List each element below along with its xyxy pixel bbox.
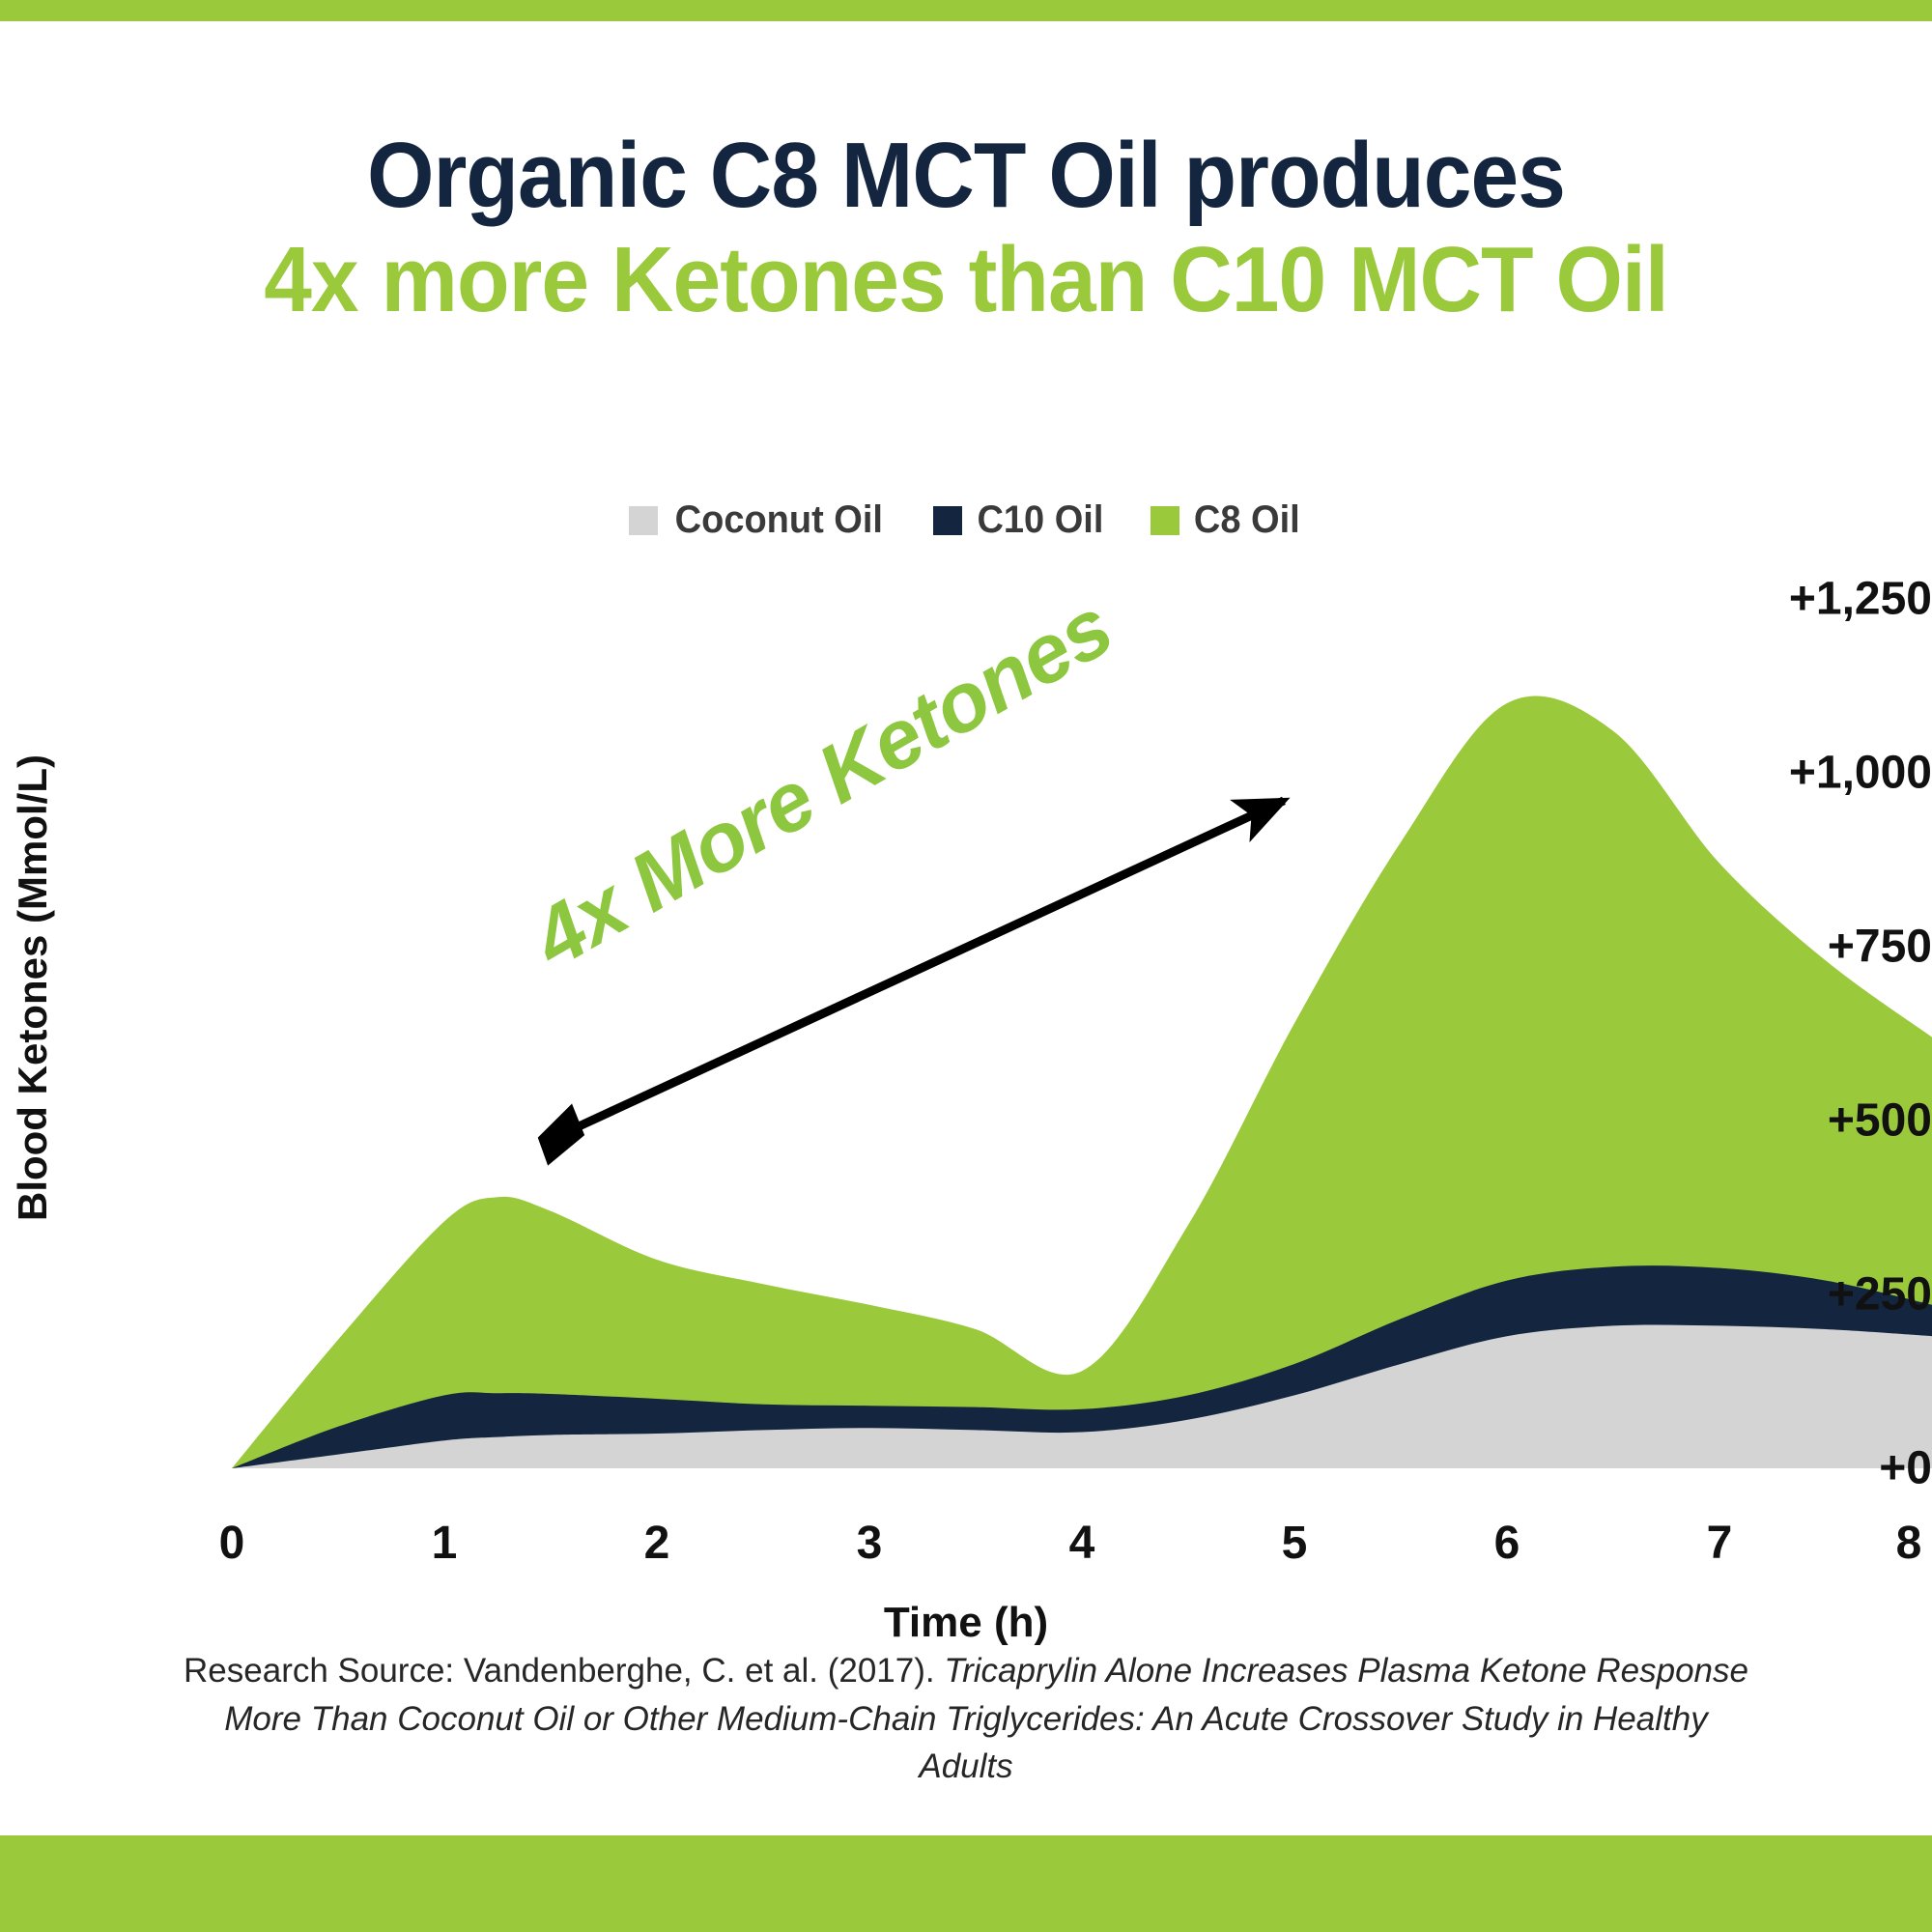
infographic-page: Organic C8 MCT Oil produces 4x more Keto… xyxy=(0,0,1932,1932)
source-prefix: Research Source: Vandenberghe, C. et al.… xyxy=(184,1652,944,1690)
x-axis-tick-8: 8 xyxy=(1870,1517,1932,1570)
x-axis-tick-5: 5 xyxy=(1256,1517,1333,1570)
y-axis-tick-750: +750 xyxy=(1719,921,1932,974)
y-axis-tick-250: +250 xyxy=(1719,1268,1932,1321)
y-axis-tick-0: +0 xyxy=(1719,1442,1932,1495)
x-axis-tick-7: 7 xyxy=(1681,1517,1758,1570)
x-axis-tick-3: 3 xyxy=(831,1517,908,1570)
y-axis-tick-1250: +1,250 xyxy=(1719,573,1932,626)
x-axis-tick-4: 4 xyxy=(1043,1517,1121,1570)
x-axis-title: Time (h) xyxy=(0,1599,1932,1647)
series-layer xyxy=(232,696,1932,1468)
chart-plot-area: 4x More Ketones +0 +250 +500 +750 +1,000… xyxy=(0,0,1932,1932)
x-axis-tick-1: 1 xyxy=(406,1517,483,1570)
x-axis-tick-2: 2 xyxy=(618,1517,696,1570)
y-axis-tick-500: +500 xyxy=(1719,1094,1932,1148)
x-axis-tick-6: 6 xyxy=(1468,1517,1546,1570)
x-axis-tick-0: 0 xyxy=(193,1517,270,1570)
y-axis-tick-1000: +1,000 xyxy=(1719,747,1932,800)
y-axis-title: Blood Ketones (Mmol/L) xyxy=(10,796,56,1221)
source-citation: Research Source: Vandenberghe, C. et al.… xyxy=(0,1647,1932,1791)
